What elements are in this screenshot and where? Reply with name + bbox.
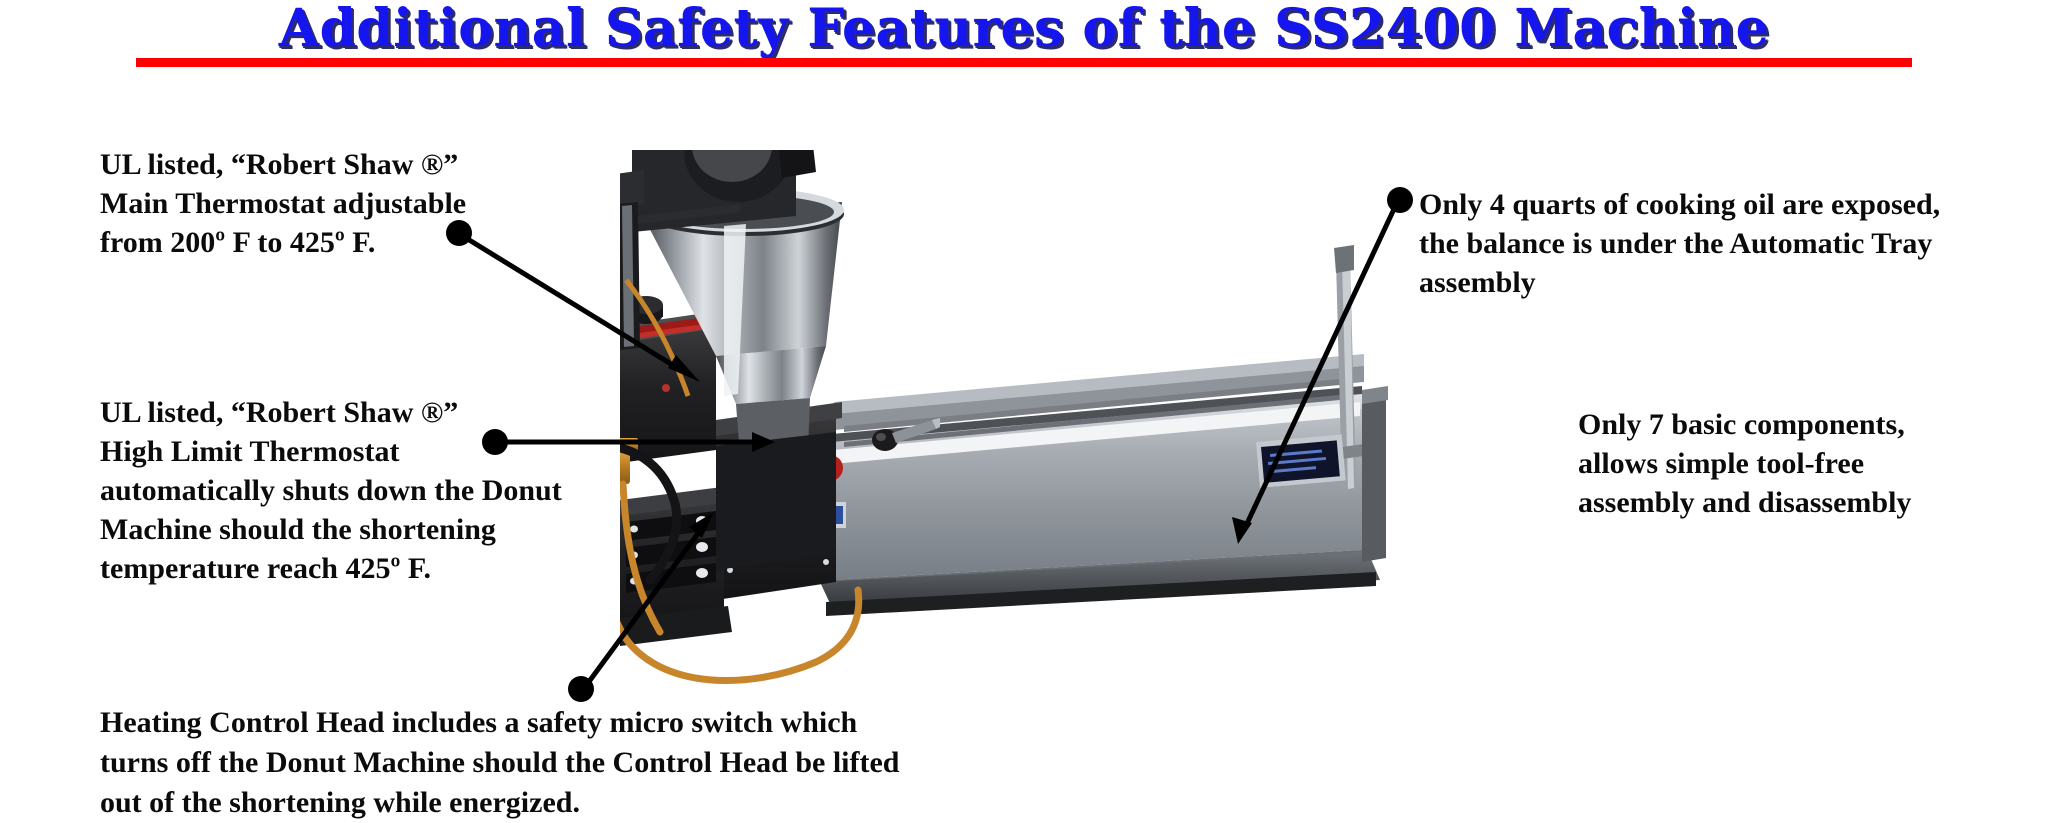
machine-photo [620,150,1520,710]
title-banner: Additional Safety Features of the SS2400… [0,0,2048,84]
callout-heating-control-head: Heating Control Head includes a safety m… [100,703,1030,823]
callout-basic-components: Only 7 basic components, allows simple t… [1578,405,2008,522]
title-underline-rule [136,58,1912,67]
callout-main-thermostat: UL listed, “Robert Shaw ®” Main Thermost… [100,145,560,262]
callout-oil-quarts: Only 4 quarts of cooking oil are exposed… [1419,185,2039,302]
machine-plate [1256,435,1346,488]
page-title: Additional Safety Features of the SS2400… [0,0,2048,59]
callout-high-limit-thermostat: UL listed, “Robert Shaw ®” High Limit Th… [100,393,620,588]
